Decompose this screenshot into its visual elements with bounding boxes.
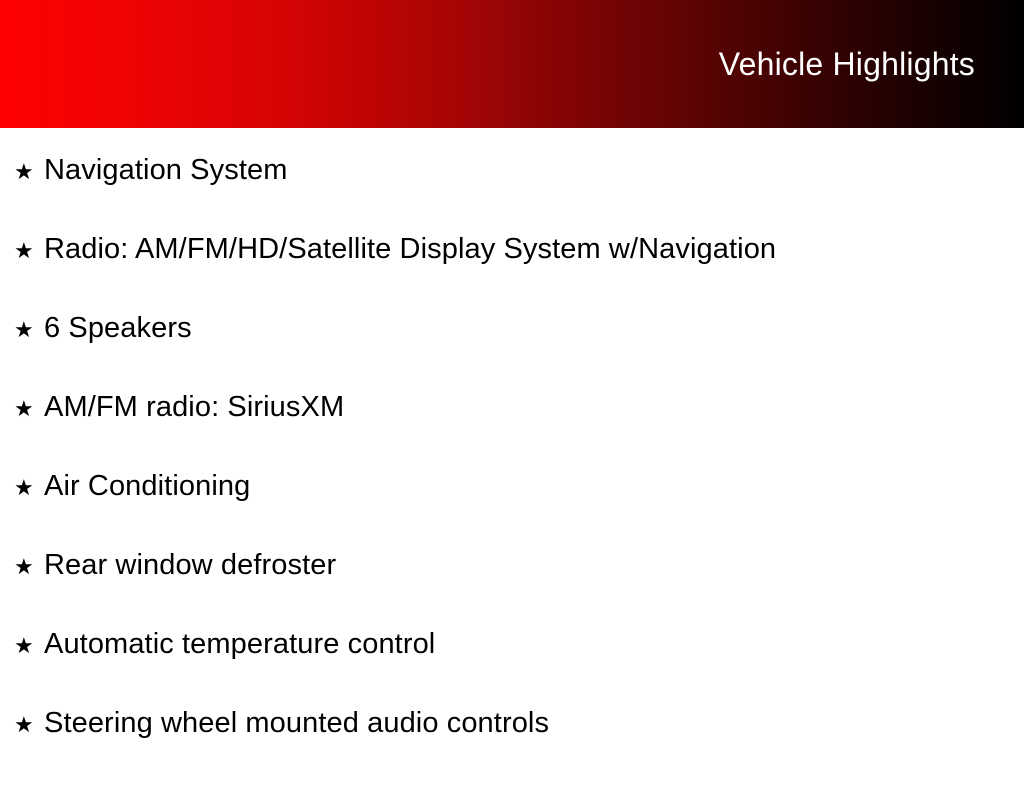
page-title: Vehicle Highlights <box>719 48 1024 80</box>
star-bullet-icon: ★ <box>14 635 44 657</box>
slide-vehicle-highlights: Vehicle Highlights ★ Navigation System ★… <box>0 0 1024 768</box>
list-item-label: 6 Speakers <box>44 314 192 343</box>
list-item: ★ Rear window defroster <box>0 551 1024 630</box>
list-item-label: Steering wheel mounted audio controls <box>44 709 549 738</box>
list-item: ★ AM/FM radio: SiriusXM <box>0 393 1024 472</box>
star-bullet-icon: ★ <box>14 714 44 736</box>
list-item: ★ Automatic temperature control <box>0 630 1024 709</box>
list-item: ★ Navigation System <box>0 128 1024 235</box>
list-item-label: Automatic temperature control <box>44 630 435 659</box>
list-item-label: Radio: AM/FM/HD/Satellite Display System… <box>44 235 776 264</box>
star-bullet-icon: ★ <box>14 477 44 499</box>
list-item-label: AM/FM radio: SiriusXM <box>44 393 344 422</box>
star-bullet-icon: ★ <box>14 319 44 341</box>
list-item-label: Navigation System <box>44 156 287 185</box>
star-bullet-icon: ★ <box>14 161 44 183</box>
list-item-label: Air Conditioning <box>44 472 250 501</box>
star-bullet-icon: ★ <box>14 556 44 578</box>
slide-header-band: Vehicle Highlights <box>0 0 1024 128</box>
list-item: ★ Radio: AM/FM/HD/Satellite Display Syst… <box>0 235 1024 314</box>
list-item: ★ Steering wheel mounted audio controls <box>0 709 1024 788</box>
vehicle-highlights-list: ★ Navigation System ★ Radio: AM/FM/HD/Sa… <box>0 128 1024 788</box>
list-item: ★ Air Conditioning <box>0 472 1024 551</box>
list-item: ★ 6 Speakers <box>0 314 1024 393</box>
star-bullet-icon: ★ <box>14 240 44 262</box>
star-bullet-icon: ★ <box>14 398 44 420</box>
list-item-label: Rear window defroster <box>44 551 336 580</box>
